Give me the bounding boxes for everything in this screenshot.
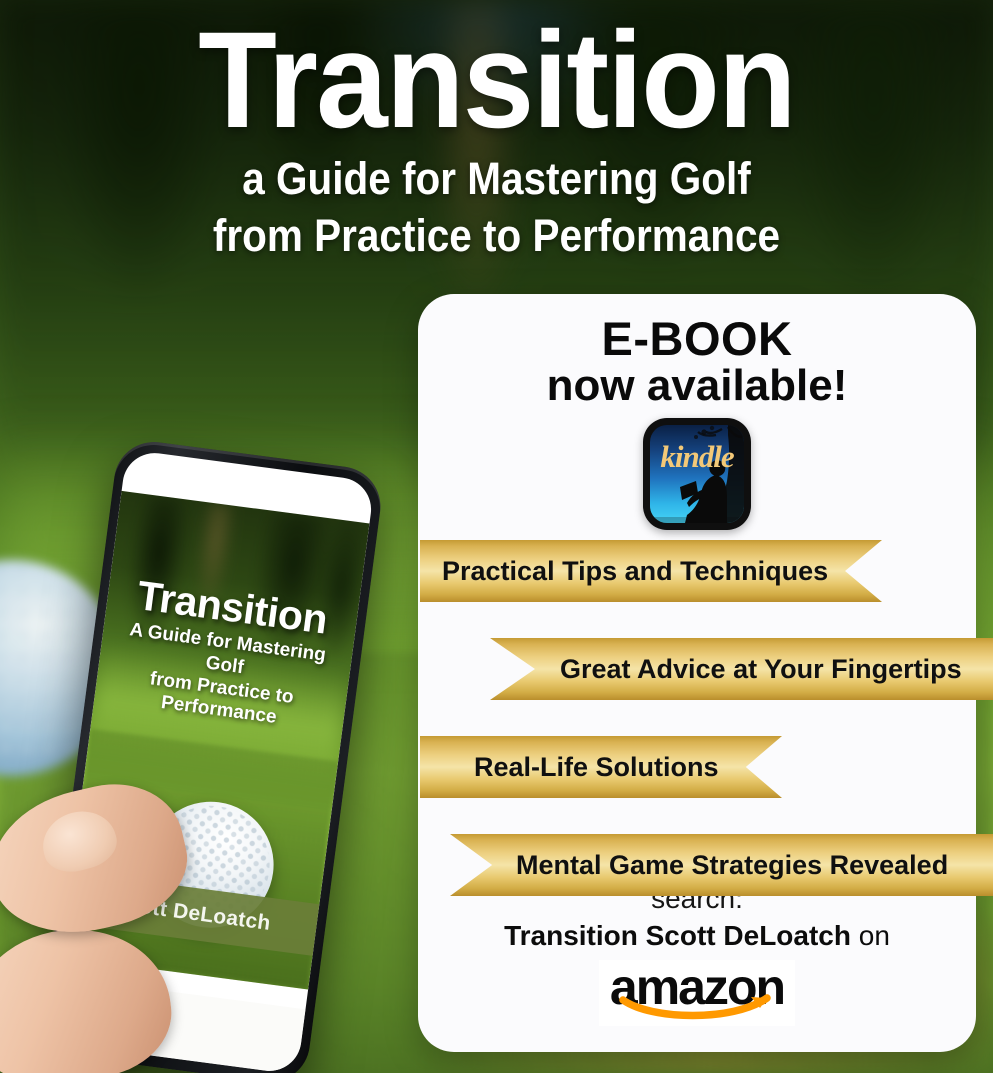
- kindle-icon-inner: kindle: [650, 425, 744, 523]
- ebook-heading: E-BOOK: [418, 314, 976, 364]
- card-heading: E-BOOK now available!: [418, 294, 976, 410]
- feature-label: Real-Life Solutions: [474, 752, 719, 783]
- feature-ribbon: Mental Game Strategies Revealed: [450, 834, 993, 896]
- kindle-wordmark: kindle: [650, 439, 744, 475]
- availability-heading: now available!: [418, 362, 976, 410]
- ebook-card: E-BOOK now available!: [418, 294, 976, 1052]
- kindle-icon[interactable]: kindle: [643, 418, 751, 530]
- feature-ribbon: Real-Life Solutions: [420, 736, 782, 798]
- feature-ribbon: Practical Tips and Techniques: [420, 540, 882, 602]
- search-query-text: Transition Scott DeLoatch: [504, 920, 851, 951]
- amazon-smile-arrow: [617, 992, 777, 1022]
- feature-label: Practical Tips and Techniques: [442, 556, 828, 587]
- amazon-logo[interactable]: amazon: [599, 960, 795, 1026]
- card-footer: search: Transition Scott DeLoatch on ama…: [418, 881, 976, 1026]
- feature-label: Great Advice at Your Fingertips: [560, 654, 962, 685]
- feature-label: Mental Game Strategies Revealed: [516, 850, 948, 881]
- search-query-suffix: on: [851, 920, 890, 951]
- cover-author-name: Scott DeLoatch: [112, 891, 272, 935]
- feature-ribbon: Great Advice at Your Fingertips: [490, 638, 993, 700]
- search-query-line: Transition Scott DeLoatch on: [418, 918, 976, 954]
- promo-poster: Transition a Guide for Mastering Golf fr…: [0, 0, 993, 1073]
